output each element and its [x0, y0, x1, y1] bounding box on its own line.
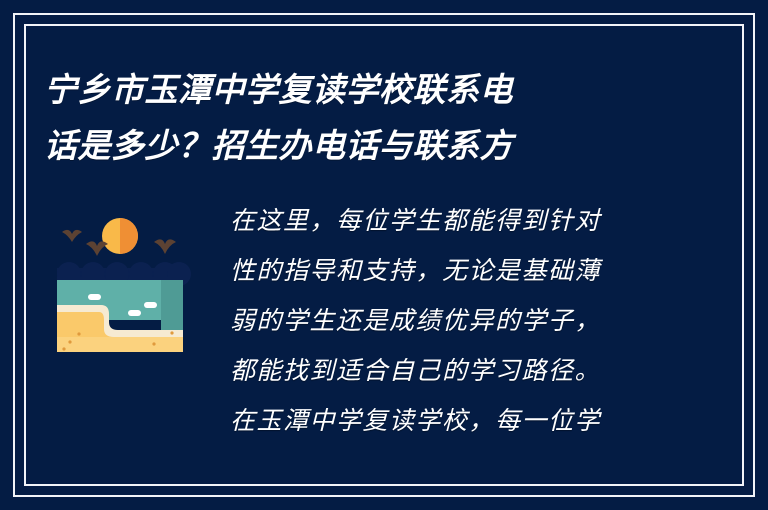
- sand-foreground: [57, 337, 183, 352]
- body-line-2: 性的指导和支持，无论是基础薄: [230, 246, 728, 296]
- body-line-5: 在玉潭中学复读学校，每一位学: [230, 396, 728, 446]
- beach-scene-illustration: [44, 202, 196, 352]
- page-title: 宁乡市玉潭中学复读学校联系电 话是多少？招生办电话与联系方: [44, 62, 684, 174]
- page-title-line-1: 宁乡市玉潭中学复读学校联系电: [44, 62, 684, 118]
- beach-scene-svg: [44, 202, 196, 352]
- body-line-4: 都能找到适合自己的学习路径。: [230, 346, 728, 396]
- body-paragraph: 在这里，每位学生都能得到针对 性的指导和支持，无论是基础薄 弱的学生还是成绩优异…: [230, 196, 728, 486]
- page-title-line-2: 话是多少？招生办电话与联系方: [44, 118, 684, 174]
- body-line-1: 在这里，每位学生都能得到针对: [230, 196, 728, 246]
- content-row: 在这里，每位学生都能得到针对 性的指导和支持，无论是基础薄 弱的学生还是成绩优异…: [44, 196, 728, 480]
- sun-icon: [102, 218, 138, 254]
- sea-shadow: [161, 280, 183, 335]
- body-line-3: 弱的学生还是成绩优异的学子，: [230, 296, 728, 346]
- promo-card: 宁乡市玉潭中学复读学校联系电 话是多少？招生办电话与联系方: [0, 0, 768, 510]
